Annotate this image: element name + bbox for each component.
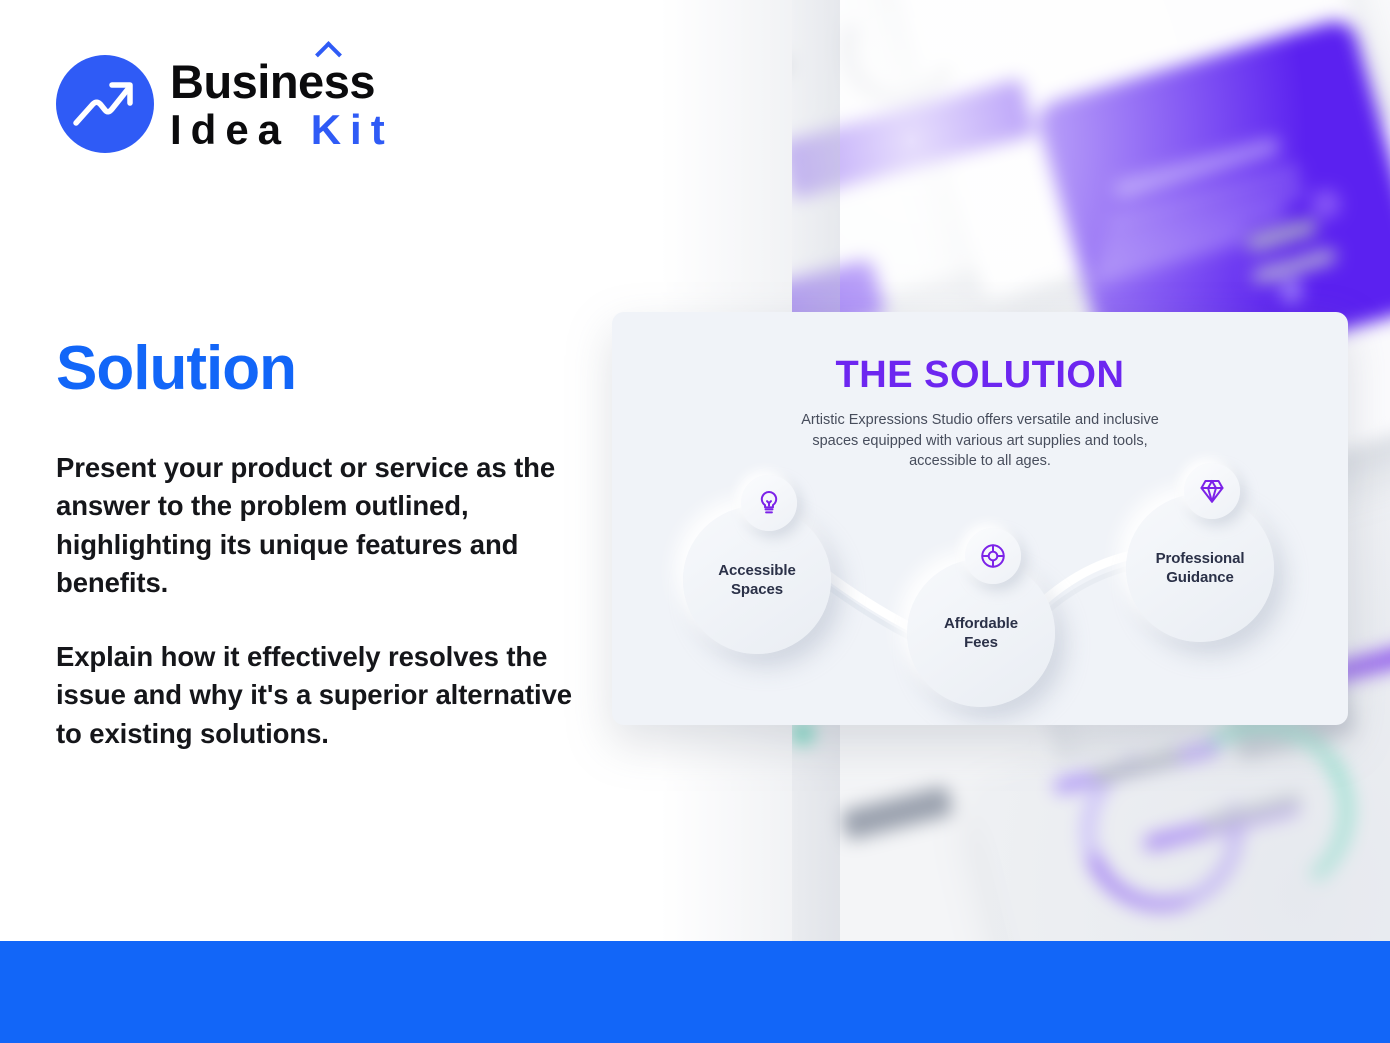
- brand-name-kit: Kit: [311, 106, 394, 153]
- body-paragraph-2: Explain how it effectively resolves the …: [56, 638, 586, 754]
- brand-name-text: Business: [170, 55, 375, 108]
- brand-name-idea: Idea: [170, 106, 290, 153]
- mockup-dot: [1312, 190, 1340, 218]
- page-title: Solution: [56, 338, 296, 400]
- lifebuoy-icon: [965, 528, 1021, 584]
- lightbulb-icon: [741, 475, 797, 531]
- mockup-dot: [792, 722, 814, 744]
- node-label: Professional Guidance: [1156, 549, 1245, 587]
- brand-name-line2: Idea Kit: [170, 109, 394, 151]
- node-label: Accessible Spaces: [718, 561, 795, 599]
- footer-bar: [0, 941, 1390, 1043]
- solution-preview-card: THE SOLUTION Artistic Expressions Studio…: [612, 312, 1348, 725]
- mockup-dot: [1280, 280, 1302, 302]
- slide-canvas: Business Idea Kit Solution Present your …: [0, 0, 1390, 1043]
- solution-diagram: Accessible Spaces Affordable Fees Profes…: [612, 312, 1348, 725]
- body-paragraph-1: Present your product or service as the a…: [56, 449, 586, 603]
- diamond-icon: [1184, 463, 1240, 519]
- brand-logo: Business Idea Kit: [56, 55, 394, 153]
- brand-name-line1: Business: [170, 58, 394, 105]
- growth-arrow-icon: [56, 55, 154, 153]
- node-label: Affordable Fees: [944, 614, 1018, 652]
